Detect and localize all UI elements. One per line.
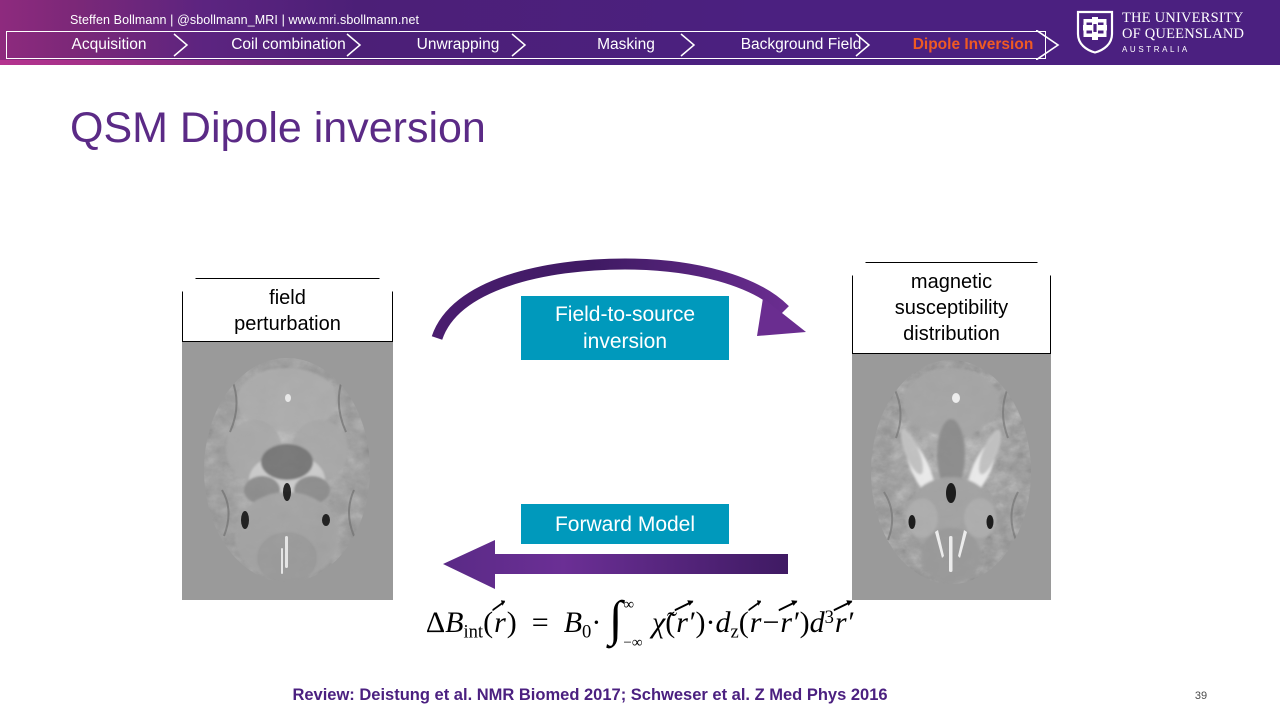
field-perturbation-panel: field perturbation xyxy=(182,278,393,600)
pipeline-breadcrumb[interactable]: Acquisition Coil combination Unwrapping … xyxy=(6,31,1068,59)
forward-model-box: Forward Model xyxy=(521,504,729,544)
chevron-right-icon xyxy=(345,32,363,58)
uq-logo: THE UNIVERSITY OF QUEENSLAND AUSTRALIA xyxy=(1076,8,1216,56)
page-title: QSM Dipole inversion xyxy=(70,104,486,153)
brain-axial-field-map xyxy=(182,340,393,600)
breadcrumb-label: Acquisition xyxy=(72,36,147,53)
chevron-right-icon xyxy=(172,32,190,58)
uq-shield-icon xyxy=(1076,10,1114,54)
chevron-right-icon xyxy=(854,32,872,58)
breadcrumb-label: Coil combination xyxy=(231,36,346,53)
inverse-box-line-1: Field-to-source xyxy=(555,301,695,328)
forward-box-label: Forward Model xyxy=(555,511,695,538)
breadcrumb-item-dipole-inversion[interactable]: Dipole Inversion xyxy=(878,31,1068,59)
label-line-1: magnetic xyxy=(853,269,1050,295)
label-line-2: perturbation xyxy=(183,311,392,337)
breadcrumb-label: Masking xyxy=(597,36,655,53)
inverse-box-line-2: inversion xyxy=(555,328,695,355)
susceptibility-label: magnetic susceptibility distribution xyxy=(852,262,1051,354)
author-byline: Steffen Bollmann | @sbollmann_MRI | www.… xyxy=(70,13,419,27)
breadcrumb-label: Unwrapping xyxy=(417,36,500,53)
field-to-source-inversion-box: Field-to-source inversion xyxy=(521,296,729,360)
uq-line-1: THE UNIVERSITY xyxy=(1122,11,1244,27)
chevron-right-icon xyxy=(679,32,697,58)
breadcrumb-label: Dipole Inversion xyxy=(913,36,1034,53)
uq-line-3: AUSTRALIA xyxy=(1122,45,1244,54)
page-number: 39 xyxy=(1186,690,1216,702)
citation-text: Review: Deistung et al. NMR Biomed 2017;… xyxy=(0,686,1180,705)
susceptibility-panel: magnetic susceptibility distribution xyxy=(852,262,1051,600)
slide-header-bar: Steffen Bollmann | @sbollmann_MRI | www.… xyxy=(0,0,1280,65)
uq-wordmark: THE UNIVERSITY OF QUEENSLAND AUSTRALIA xyxy=(1122,11,1244,54)
label-line-1: field xyxy=(183,285,392,311)
field-perturbation-label: field perturbation xyxy=(182,278,393,342)
label-line-3: distribution xyxy=(853,321,1050,347)
brain-axial-qsm-map xyxy=(852,340,1051,600)
field-perturbation-image xyxy=(182,340,393,600)
forward-model-arrow xyxy=(443,540,788,590)
header-accent-strip xyxy=(0,60,1280,65)
breadcrumb-label: Background Field xyxy=(741,36,862,53)
susceptibility-image xyxy=(852,340,1051,600)
label-line-2: susceptibility xyxy=(853,295,1050,321)
uq-line-2: OF QUEENSLAND xyxy=(1122,27,1244,43)
dipole-forward-model-equation: ΔBint(r) = B0· ∫∞−∞ χ̃(r′)·dz(r−r′)d3r′ xyxy=(0,606,1280,644)
chevron-right-icon xyxy=(510,32,528,58)
